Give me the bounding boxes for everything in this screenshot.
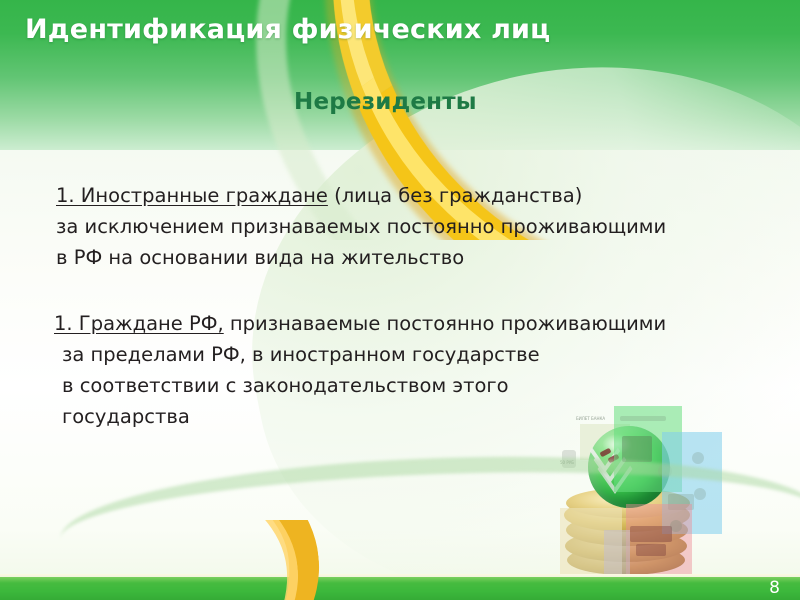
body-lead-rest: признаваемые постоянно проживающими [224, 312, 666, 335]
body-lead-underlined: 1. Иностранные граждане [56, 184, 328, 207]
banknote-engraving [620, 416, 666, 421]
body-line: 1. Граждане РФ, признаваемые постоянно п… [54, 308, 666, 339]
body-line: за пределами РФ, в иностранном государст… [54, 339, 666, 370]
body-lead-underlined: 1. Граждане РФ, [54, 312, 224, 335]
body-lead-rest: (лица без гражданства) [328, 184, 582, 207]
slide-subtitle: Нерезиденты [294, 89, 477, 115]
presentation-slide: Идентификация физических лиц Нерезиденты… [0, 0, 800, 600]
orange-swoosh-highlight-shape [0, 520, 313, 600]
body-line: в РФ на основании вида на жительство [56, 242, 666, 273]
body-line: 1. Иностранные граждане (лица без гражда… [56, 180, 666, 211]
body-line: за исключением признаваемых постоянно пр… [56, 211, 666, 242]
page-number: 8 [769, 578, 780, 598]
body-block-foreign-citizens: 1. Иностранные граждане (лица без гражда… [56, 180, 666, 273]
body-line: в соответствии с законодательством этого [54, 370, 666, 401]
banknote-seal [692, 452, 704, 464]
page-title: Идентификация физических лиц [25, 14, 550, 45]
banknote-microtext: БИЛЕТ БАНКА [576, 416, 605, 421]
orange-swoosh-decoration [0, 520, 330, 600]
banknote-engraving [622, 436, 652, 462]
